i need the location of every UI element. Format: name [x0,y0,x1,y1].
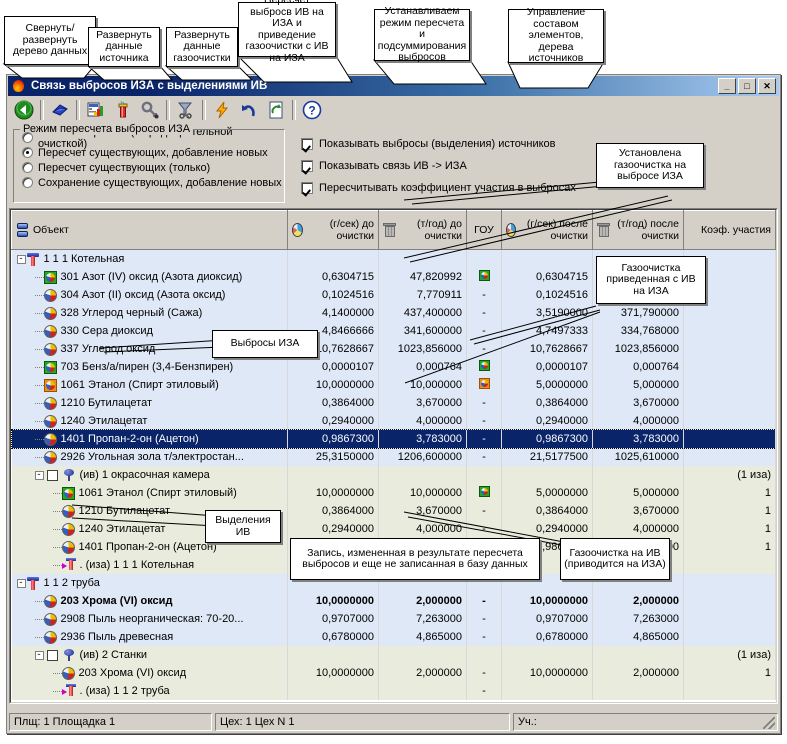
cell-tyear-after[interactable]: 3,783000 [593,430,684,448]
cell-object[interactable]: 203 Хрома (VI) оксид [12,664,288,682]
cell-gsec-before[interactable]: 0,9867300 [288,430,379,448]
grid-body: -1 1 1 Котельная301 Азот (IV) оксид (Азо… [12,250,776,701]
cell-gsec-after[interactable]: 10,0000000 [502,592,593,610]
cell-object[interactable]: -1 1 2 труба [12,574,288,592]
cell-gsec-after[interactable]: 0,6780000 [502,628,593,646]
group-title: Режим пересчета выбросов ИЗА [20,123,193,135]
pie-icon [44,595,57,608]
key-button[interactable] [137,98,163,122]
cell-object[interactable]: 1061 Этанол (Спирт этиловый) [12,484,288,502]
cell-tyear-before[interactable]: 47,820992 [379,268,467,286]
recalc-mode-group: Режим пересчета выбросов ИЗА Полный пере… [13,129,285,203]
workshop-pane: Цех: 1 Цех N 1 [215,713,510,731]
column-header-gou[interactable]: ГОУ [467,211,502,250]
cell-gsec-after[interactable]: 0,2940000 [502,520,593,538]
cell-gou[interactable] [467,358,502,376]
cell-tyear-after[interactable]: 334,768000 [593,322,684,340]
row-label: 337 Углерод оксид [61,343,156,355]
cell-tyear-after[interactable]: 5,000000 [593,376,684,394]
cell-tyear-after[interactable]: 1025,610000 [593,448,684,466]
callout-text: Выбросы ИЗА [231,338,300,350]
tree-icon [62,648,76,662]
callout-iza-emissions: Выбросы ИЗА [212,330,318,358]
cell-gsec-before[interactable]: 0,3864000 [288,394,379,412]
resize-grip-icon[interactable] [763,717,775,729]
tree-line [53,673,62,674]
cell-tyear-after[interactable] [593,646,684,664]
tree-line [35,313,44,314]
radio-indicator[interactable] [22,147,33,158]
table-row[interactable]: 1061 Этанол (Спирт этиловый)10,000000010… [12,376,776,394]
table-row[interactable]: 1210 Бутилацетат0,38640003,670000-0,3864… [12,502,776,520]
gou-orange-icon [479,378,490,389]
cell-gsec-after[interactable]: 0,2940000 [502,412,593,430]
cell-gsec-before[interactable]: 10,0000000 [288,592,379,610]
cell-gsec-before[interactable] [288,682,379,700]
cell-tyear-after[interactable]: 2,000000 [593,664,684,682]
tree-line [35,331,44,332]
column-label: (т/год) до очистки [397,218,462,242]
link-stack-icon [62,558,76,572]
table-row[interactable]: 703 Бенз/а/пирен (3,4-Бензпирен)0,000010… [12,358,776,376]
table-row[interactable]: 203 Хрома (VI) оксид10,00000002,000000-1… [12,592,776,610]
cell-participation[interactable] [684,412,776,430]
toolbar-separator [40,100,44,120]
refresh-button[interactable] [263,98,289,122]
cell-object[interactable]: 2908 Пыль неорганическая: 70-20... [12,610,288,628]
cell-tyear-after[interactable]: 4,000000 [593,412,684,430]
checkbox-indicator[interactable] [301,160,313,172]
cell-participation[interactable] [684,610,776,628]
pie-icon [44,343,57,356]
row-label: 2926 Угольная зола т/электростан... [61,451,244,463]
table-row[interactable]: 1061 Этанол (Спирт этиловый)10,000000010… [12,484,776,502]
cell-gou[interactable]: - [467,340,502,358]
cell-gsec-after[interactable]: 0,6304715 [502,268,593,286]
cell-participation[interactable]: 1 [684,538,776,556]
cell-participation[interactable] [684,448,776,466]
link-stack-icon [62,684,76,698]
row-label: 1401 Пропан-2-он (Ацетон) [61,433,199,445]
callout-iv-emissions: Выделения ИВ [205,510,281,543]
pie-icon [44,289,57,302]
cell-tyear-after[interactable] [593,682,684,700]
minimize-button[interactable]: _ [718,78,736,94]
table-row[interactable]: 2926 Угольная зола т/электростан...25,31… [12,448,776,466]
source-data-button[interactable] [83,98,109,122]
cell-gsec-after[interactable] [502,646,593,664]
cell-tyear-before[interactable]: 4,000000 [379,412,467,430]
cell-object[interactable]: . (иза) 1 1 2 труба [12,682,288,700]
checkbox-indicator[interactable] [301,182,313,194]
cell-participation[interactable]: 1 [684,520,776,538]
cell-gsec-before[interactable]: 10,0000000 [288,376,379,394]
cell-participation[interactable] [684,430,776,448]
row-label: . (иза) 1 1 2 труба [80,685,170,697]
cell-gsec-after[interactable]: 5,0000000 [502,484,593,502]
callout-text: Газоочистка на ИВ (приводится на ИЗА) [564,548,666,571]
radio-indicator[interactable] [22,177,33,188]
cell-participation[interactable] [684,340,776,358]
row-label: 1210 Бутилацетат [61,397,152,409]
cell-gou[interactable]: - [467,322,502,340]
cell-tyear-after[interactable]: 0,000764 [593,358,684,376]
cell-gou[interactable]: - [467,610,502,628]
row-label: 1401 Пропан-2-он (Ацетон) [79,541,217,553]
cell-tyear-after[interactable]: 4,865000 [593,628,684,646]
checkbox-label: Показывать выбросы (выделения) источнико… [319,138,556,150]
tree-line [35,385,44,386]
site-pane: Плщ: 1 Площадка 1 [9,713,212,731]
cell-object[interactable]: 1061 Этанол (Спирт этиловый) [12,376,288,394]
filter-button[interactable] [173,98,199,122]
table-row[interactable]: 337 Углерод оксид10,76286671023,856000-1… [12,340,776,358]
callout-expand-gas-cleaning: Развернуть данные газоочистки [166,27,238,67]
checkbox-show-iv-iza-link[interactable]: Показывать связь ИВ -> ИЗА [301,155,576,177]
cell-tyear-before[interactable]: 0,000764 [379,358,467,376]
cell-gou[interactable]: - [467,412,502,430]
cell-gsec-after[interactable]: 0,9707000 [502,610,593,628]
cell-participation[interactable] [684,592,776,610]
cell-object[interactable]: -(ив) 2 Станки [12,646,288,664]
column-label: Объект [33,224,69,236]
table-row[interactable]: -(ив) 2 Станки(1 иза) [12,646,776,664]
cell-participation[interactable]: (1 иза) [684,646,776,664]
cell-tyear-before[interactable]: 3,670000 [379,394,467,412]
cell-tyear-before[interactable]: 341,600000 [379,322,467,340]
cell-object[interactable]: 328 Углерод черный (Сажа) [12,304,288,322]
cell-gsec-after[interactable]: 4,7497333 [502,322,593,340]
cell-gsec-before[interactable]: 0,3864000 [288,502,379,520]
status-bar: Плщ: 1 Площадка 1 Цех: 1 Цех N 1 Уч.: [9,713,778,731]
tree-line [35,439,44,440]
cell-gsec-before[interactable] [288,250,379,269]
undo-button[interactable] [236,98,262,122]
checkbox-recalc-participation[interactable]: Пересчитывать коэффициент участия в выбр… [301,177,576,199]
cell-gsec-after[interactable]: 21,5177500 [502,448,593,466]
cell-gou[interactable]: - [467,682,502,700]
tree-expander[interactable]: - [35,651,44,660]
cell-object[interactable]: 1210 Бутилацетат [12,394,288,412]
tree-expander[interactable]: - [17,579,26,588]
row-label: 1061 Этанол (Спирт этиловый) [61,379,219,391]
cell-gou[interactable] [467,646,502,664]
cell-object[interactable]: 1401 Пропан-2-он (Ацетон) [12,430,288,448]
cell-tyear-before[interactable] [379,466,467,484]
cell-participation[interactable] [684,358,776,376]
tree-expander[interactable]: - [17,255,26,264]
cell-tyear-before[interactable]: 4,000000 [379,520,467,538]
cell-gou[interactable]: - [467,628,502,646]
cell-gou[interactable]: - [467,664,502,682]
cell-participation[interactable] [684,556,776,574]
cell-gou[interactable]: - [467,502,502,520]
cell-gou[interactable]: - [467,448,502,466]
cell-tyear-after[interactable]: 3,670000 [593,502,684,520]
callout-gou-installed: Установлена газоочистка на выбросе ИЗА [596,143,704,188]
cell-gsec-before[interactable]: 0,2940000 [288,412,379,430]
cell-gou[interactable] [467,376,502,394]
cell-gou[interactable]: - [467,304,502,322]
stack-data-button[interactable] [110,98,136,122]
table-row[interactable]: 330 Сера диоксид4,8466666341,600000-4,74… [12,322,776,340]
cell-tyear-after[interactable]: 4,000000 [593,520,684,538]
tree-line [35,277,44,278]
column-label: (т/год) после очистки [610,218,679,242]
title-bar[interactable]: Связь выбросов ИЗА с выделениями ИВ _ □ … [8,76,779,96]
cell-participation[interactable]: 1 [684,502,776,520]
stack-icon [26,576,40,590]
cell-tyear-before[interactable] [379,250,467,269]
cell-participation[interactable] [684,628,776,646]
row-label: 1 1 2 труба [44,577,100,589]
row-label: 2936 Пыль древесная [61,631,174,643]
cell-object[interactable]: 301 Азот (IV) оксид (Азота диоксид) [12,268,288,286]
radio-label: Сохранение существующих, добавление новы… [38,177,282,189]
cell-gsec-after[interactable] [502,682,593,700]
table-row[interactable]: . (иза) 1 1 2 труба- [12,682,776,700]
table-row[interactable]: 2936 Пыль древесная0,67800004,865000-0,6… [12,628,776,646]
cell-tyear-after[interactable] [593,466,684,484]
radio-label: Пересчет существующих, добавление новых [38,147,268,159]
toolbar: ? [8,97,779,123]
cell-tyear-after[interactable]: 1023,856000 [593,340,684,358]
table-row[interactable]: 1401 Пропан-2-он (Ацетон)0,98673003,7830… [12,430,776,448]
pie-icon [44,307,57,320]
cell-participation[interactable] [684,394,776,412]
cell-tyear-before[interactable]: 10,000000 [379,376,467,394]
section-pane: Уч.: [513,713,778,731]
cell-tyear-after[interactable]: 5,000000 [593,484,684,502]
callout-text: Запись, измененная в результате пересчет… [294,548,536,571]
cell-object[interactable]: 2926 Угольная зола т/электростан... [12,448,288,466]
cell-tyear-before[interactable]: 2,000000 [379,664,467,682]
cell-gsec-after[interactable]: 0,3864000 [502,394,593,412]
column-header-tyear-after[interactable]: (т/год) после очистки [593,211,684,250]
tree-line [53,691,62,692]
cell-participation[interactable]: 1 [684,664,776,682]
maximize-button[interactable]: □ [738,78,756,94]
row-label: 203 Хрома (VI) оксид [61,595,173,607]
cell-tyear-before[interactable]: 1206,600000 [379,448,467,466]
cell-object[interactable]: -(ив) 1 окрасочная камера [12,466,288,484]
radio-keep-existing-add-new[interactable]: Сохранение существующих, добавление новы… [22,175,284,190]
cell-object[interactable]: -1 1 1 Котельная [12,250,288,269]
cell-gsec-after[interactable]: 0,1024516 [502,286,593,304]
cell-gsec-after[interactable]: 0,3864000 [502,502,593,520]
table-row[interactable]: 1240 Этилацетат0,29400004,000000-0,29400… [12,412,776,430]
callout-text: Развернуть данные источника [92,30,156,65]
cell-gsec-after[interactable]: 10,7628667 [502,340,593,358]
row-label: . (иза) 1 1 1 Котельная [80,559,195,571]
column-header-participation[interactable]: Коэф. участия [684,211,776,250]
cell-gsec-after[interactable]: 5,0000000 [502,376,593,394]
cell-tyear-before[interactable]: 3,783000 [379,430,467,448]
checkbox-indicator[interactable] [301,138,313,150]
column-header-gsec-after[interactable]: (г/сек) после очистки [502,211,593,250]
cell-participation[interactable] [684,682,776,700]
column-label: ГОУ [474,224,494,236]
cell-participation[interactable]: 1 [684,484,776,502]
cell-participation[interactable] [684,322,776,340]
row-label: 703 Бенз/а/пирен (3,4-Бензпирен) [61,361,234,373]
gou-green-icon [479,360,490,371]
cell-tyear-before[interactable]: 7,770911 [379,286,467,304]
cell-participation[interactable] [684,574,776,592]
cell-gsec-before[interactable]: 0,1024516 [288,286,379,304]
cell-tyear-before[interactable]: 437,400000 [379,304,467,322]
table-row[interactable]: 328 Углерод черный (Сажа)4,1400000437,40… [12,304,776,322]
row-checkbox[interactable] [47,650,58,661]
cell-object[interactable]: 703 Бенз/а/пирен (3,4-Бензпирен) [12,358,288,376]
table-row[interactable]: 1240 Этилацетат0,29400004,000000-0,29400… [12,520,776,538]
cell-participation[interactable]: (1 иза) [684,466,776,484]
tree-line [53,547,62,548]
toolbar-separator [202,100,206,120]
radio-indicator[interactable] [22,162,33,173]
table-row[interactable]: 2908 Пыль неорганическая: 70-20...0,9707… [12,610,776,628]
row-checkbox[interactable] [47,470,58,481]
toolbar-separator [76,100,80,120]
checkbox-show-source-emissions[interactable]: Показывать выбросы (выделения) источнико… [301,133,576,155]
gou-green-icon [479,270,490,281]
checkbox-label: Показывать связь ИВ -> ИЗА [319,160,467,172]
cell-tyear-after[interactable]: 3,670000 [593,394,684,412]
cell-gsec-before[interactable]: 10,0000000 [288,484,379,502]
cell-gou[interactable]: - [467,520,502,538]
tree-line [35,457,44,458]
tree-line [35,421,44,422]
gou-green-icon [479,486,490,497]
column-header-tyear-before[interactable]: (т/год) до очистки [379,211,467,250]
column-header-object[interactable]: Объект [12,211,288,250]
pie-icon [44,415,57,428]
callout-text: Развернуть данные газоочистки [170,30,234,65]
cell-tyear-after[interactable]: 2,000000 [593,592,684,610]
cell-participation[interactable] [684,376,776,394]
column-label: (г/сек) после очистки [520,218,588,242]
tree-line [53,493,62,494]
cell-gsec-after[interactable]: 10,0000000 [502,664,593,682]
pie-icon [44,325,57,338]
cell-tyear-after[interactable]: 7,263000 [593,610,684,628]
svg-text:?: ? [308,104,315,118]
pie-icon [44,451,57,464]
cell-gou[interactable]: - [467,592,502,610]
radio-indicator[interactable] [22,132,33,143]
table-row[interactable]: 203 Хрома (VI) оксид10,00000002,000000-1… [12,664,776,682]
callout-gou-on-iv: Газоочистка на ИВ (приводится на ИЗА) [560,538,670,580]
cell-tyear-before[interactable]: 3,670000 [379,502,467,520]
pie-chart-icon [292,223,303,237]
cell-participation[interactable] [684,304,776,322]
help-button[interactable]: ? [299,98,325,122]
radio-recalc-existing-only[interactable]: Пересчет существующих (только) [22,160,284,175]
cell-object[interactable]: 304 Азот (II) оксид (Азота оксид) [12,286,288,304]
cell-tyear-after[interactable]: 371,790000 [593,304,684,322]
flame-icon [11,78,27,94]
eraser-button[interactable] [47,98,73,122]
recalc-button[interactable] [209,98,235,122]
callout-gou-reduced: Газоочистка приведенная с ИВ на ИЗА [596,256,706,304]
table-row[interactable]: -(ив) 1 окрасочная камера(1 иза) [12,466,776,484]
callout-text: Управление составом элементов, дерева ис… [512,7,600,65]
close-button[interactable]: ✕ [758,78,776,94]
cell-gou[interactable] [467,250,502,269]
cell-gsec-before[interactable]: 10,0000000 [288,664,379,682]
cell-gou[interactable] [467,466,502,484]
table-row[interactable]: 1210 Бутилацетат0,38640003,670000-0,3864… [12,394,776,412]
window-title: Связь выбросов ИЗА с выделениями ИВ [31,80,718,92]
row-label: 330 Сера диоксид [61,325,153,337]
cell-gou[interactable]: - [467,430,502,448]
cell-gsec-before[interactable]: 0,2940000 [288,520,379,538]
cell-object[interactable]: . (иза) 1 1 1 Котельная [12,556,288,574]
cell-gsec-after[interactable]: 0,9867300 [502,430,593,448]
cell-gsec-before[interactable]: 0,9707000 [288,610,379,628]
cell-tyear-before[interactable]: 7,263000 [379,610,467,628]
cell-gou[interactable]: - [467,286,502,304]
trash-bin-icon [597,223,606,237]
radio-recalc-existing-add-new[interactable]: Пересчет существующих, добавление новых [22,145,284,160]
cell-gsec-before[interactable]: 25,3150000 [288,448,379,466]
column-header-gsec-before[interactable]: (г/сек) до очистки [288,211,379,250]
cell-gsec-before[interactable]: 0,6304715 [288,268,379,286]
cell-gsec-before[interactable] [288,466,379,484]
pie-icon [62,667,75,680]
cell-tyear-before[interactable] [379,682,467,700]
pie-green-icon [62,487,75,500]
radio-label: Пересчет существующих (только) [38,162,210,174]
cell-tyear-before[interactable]: 4,865000 [379,628,467,646]
row-label: 1210 Бутилацетат [79,505,170,517]
cell-gsec-before[interactable]: 0,6780000 [288,628,379,646]
cell-tyear-before[interactable]: 10,000000 [379,484,467,502]
cell-gsec-before[interactable]: 0,0000107 [288,358,379,376]
tree-line [35,367,44,368]
cell-object[interactable]: 203 Хрома (VI) оксид [12,592,288,610]
cell-gou[interactable] [467,268,502,286]
callout-unsaved-record: Запись, измененная в результате пересчет… [290,538,540,580]
cell-tyear-before[interactable]: 2,000000 [379,592,467,610]
cell-object[interactable]: 2936 Пыль древесная [12,628,288,646]
cell-gou[interactable] [467,484,502,502]
callout-text: Устанавливаем режим пересчета и подсумми… [378,6,466,64]
cell-gsec-before[interactable] [288,646,379,664]
pie-icon [44,433,57,446]
back-button[interactable] [11,98,37,122]
row-label: 1061 Этанол (Спирт этиловый) [79,487,237,499]
cell-gsec-after[interactable] [502,466,593,484]
cell-tyear-before[interactable]: 1023,856000 [379,340,467,358]
object-tree-icon [16,223,29,238]
cell-gou[interactable]: - [467,394,502,412]
cell-object[interactable]: 1240 Этилацетат [12,412,288,430]
column-label: (г/сек) до очистки [307,218,374,242]
cell-gsec-before[interactable]: 4,1400000 [288,304,379,322]
checkbox-label: Пересчитывать коэффициент участия в выбр… [319,182,576,194]
callout-text: Пересчет выбросв ИВ на ИЗА и приведение … [242,0,332,64]
row-label: 203 Хрома (VI) оксид [79,667,187,679]
cell-gsec-after[interactable] [502,250,593,269]
cell-tyear-before[interactable] [379,646,467,664]
cell-gsec-after[interactable]: 0,0000107 [502,358,593,376]
row-label: 328 Углерод черный (Сажа) [61,307,203,319]
toolbar-separator [292,100,296,120]
row-label: 301 Азот (IV) оксид (Азота диоксид) [61,271,243,283]
tree-expander[interactable]: - [35,471,44,480]
cell-gsec-after[interactable]: 3,5190000 [502,304,593,322]
